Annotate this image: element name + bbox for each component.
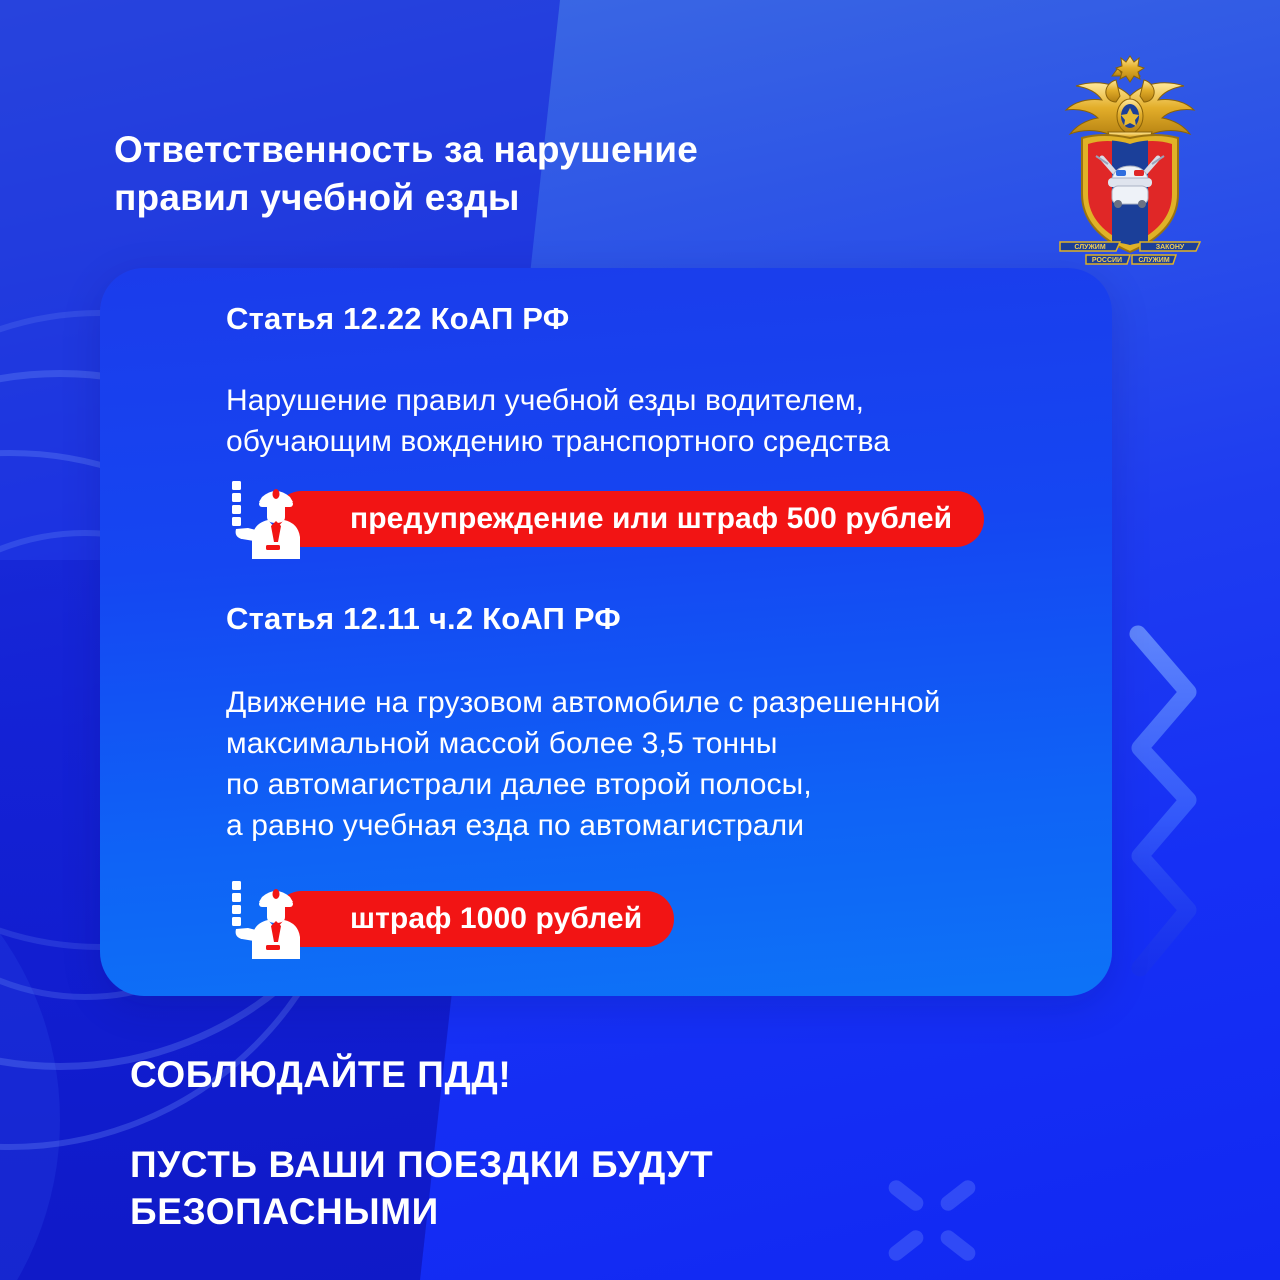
penalty-card: Статья 12.22 КоАП РФ Нарушение правил уч… [100, 268, 1112, 996]
penalty-badge-2: штраф 1000 рублей [226, 880, 674, 958]
penalty-text-1: предупреждение или штраф 500 рублей [350, 502, 952, 536]
page-title: Ответственность за нарушение правил учеб… [114, 126, 934, 222]
sparkle-icon [880, 1180, 990, 1270]
chevron-zigzag-icon [1096, 600, 1236, 1000]
gibdd-emblem-icon: СЛУЖИМ ЗАКОНУ РОССИИ СЛУЖИМ [1046, 52, 1214, 270]
penalty-pill-1: предупреждение или штраф 500 рублей [274, 491, 984, 547]
ribbon-text-top-left: СЛУЖИМ [1074, 244, 1106, 251]
article-description-2: Движение на грузовом автомобиле с разреш… [226, 682, 1112, 846]
penalty-text-2: штраф 1000 рублей [350, 902, 642, 936]
ribbon-text-bottom-right: СЛУЖИМ [1138, 257, 1170, 264]
sparkle-dash-2 [938, 1177, 979, 1213]
poster-root: Ответственность за нарушение правил учеб… [0, 0, 1280, 1280]
penalty-pill-2: штраф 1000 рублей [274, 891, 674, 947]
sparkle-dash-4 [938, 1227, 979, 1263]
slogan-observe-rules: СОБЛЮДАЙТЕ ПДД! [130, 1052, 511, 1099]
penalty-badge-1: предупреждение или штраф 500 рублей [226, 480, 984, 558]
sparkle-dash-1 [886, 1177, 927, 1213]
ribbon-text-top-right: ЗАКОНУ [1156, 244, 1185, 251]
slogan-safe-trips: ПУСТЬ ВАШИ ПОЕЗДКИ БУДУТ БЕЗОПАСНЫМИ [130, 1142, 713, 1235]
police-officer-icon [226, 479, 322, 559]
police-officer-icon [226, 879, 322, 959]
article-number-1: Статья 12.22 КоАП РФ [226, 301, 569, 337]
sparkle-dash-3 [886, 1227, 927, 1263]
article-number-2: Статья 12.11 ч.2 КоАП РФ [226, 601, 621, 637]
article-description-1: Нарушение правил учебной езды водителем,… [226, 380, 1112, 462]
ribbon-text-bottom-left: РОССИИ [1092, 257, 1122, 264]
